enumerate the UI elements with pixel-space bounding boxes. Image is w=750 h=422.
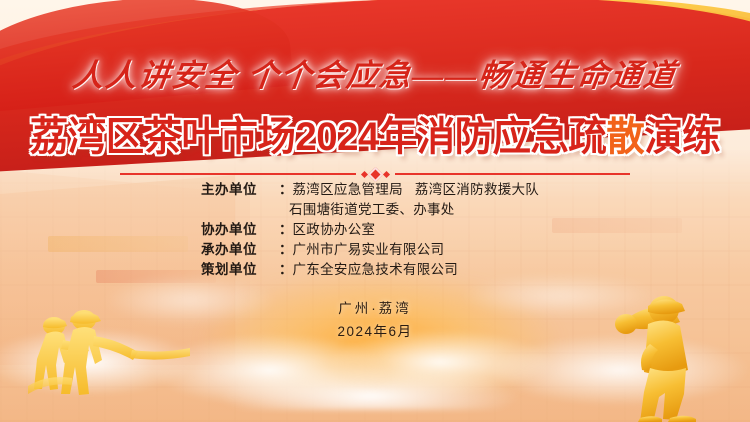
organizer-label: 承办单位 (201, 240, 279, 260)
organizer-colon: ： (279, 220, 293, 240)
diamond-small-left (360, 170, 367, 177)
organizer-label: 协办单位 (201, 220, 279, 240)
title-tail: 演练 (644, 115, 720, 159)
organizer-colon: ： (279, 180, 293, 200)
event-place: 广州·荔湾 (0, 298, 750, 320)
event-date: 2024年6月 (0, 320, 750, 340)
poster-title: 荔湾区茶叶市场2024年消防应急疏散演练 (15, 104, 735, 162)
diamond-ornament-icon (362, 169, 389, 180)
poster-canvas: 人人讲安全 个个会应急——畅通生命通道 荔湾区茶叶市场2024年消防应急疏散演练… (0, 0, 750, 422)
organizer-value-continuation: 石围塘街道党工委、办事处 (289, 200, 549, 220)
organizer-value-a: 荔湾区应急管理局 (293, 182, 403, 197)
organizer-value-b: 荔湾区消防救援大队 (415, 182, 539, 197)
organizer-row: 主办单位 ： 荔湾区应急管理局荔湾区消防救援大队 (201, 180, 549, 200)
decorative-divider (120, 168, 630, 180)
organizer-row: 协办单位 ： 区政协办公室 (201, 220, 549, 240)
organizer-block: 主办单位 ： 荔湾区应急管理局荔湾区消防救援大队 石围塘街道党工委、办事处 协办… (0, 180, 750, 280)
organizer-colon: ： (279, 240, 293, 260)
organizer-row: 承办单位 ： 广州市广易实业有限公司 (201, 240, 549, 260)
organizer-label: 策划单位 (201, 260, 279, 280)
organizer-colon: ： (279, 260, 293, 280)
organizer-label: 主办单位 (201, 180, 279, 200)
organizer-value: 广州市广易实业有限公司 (293, 240, 550, 260)
organizer-value: 广东全安应急技术有限公司 (293, 260, 550, 280)
organizer-row-continuation: 石围塘街道党工委、办事处 (201, 200, 549, 220)
title-main: 荔湾区茶叶市场2024年消防应急疏 (30, 115, 606, 159)
poster-slogan: 人人讲安全 个个会应急——畅通生命通道 (0, 50, 750, 95)
title-accent: 散 (606, 115, 644, 159)
diamond-small-right (382, 170, 389, 177)
organizer-row: 策划单位 ： 广东全安应急技术有限公司 (201, 260, 549, 280)
organizer-value: 区政协办公室 (293, 220, 550, 240)
organizer-value: 荔湾区应急管理局荔湾区消防救援大队 (293, 180, 550, 200)
divider-rule-right (395, 173, 631, 175)
divider-rule-left (120, 173, 356, 175)
